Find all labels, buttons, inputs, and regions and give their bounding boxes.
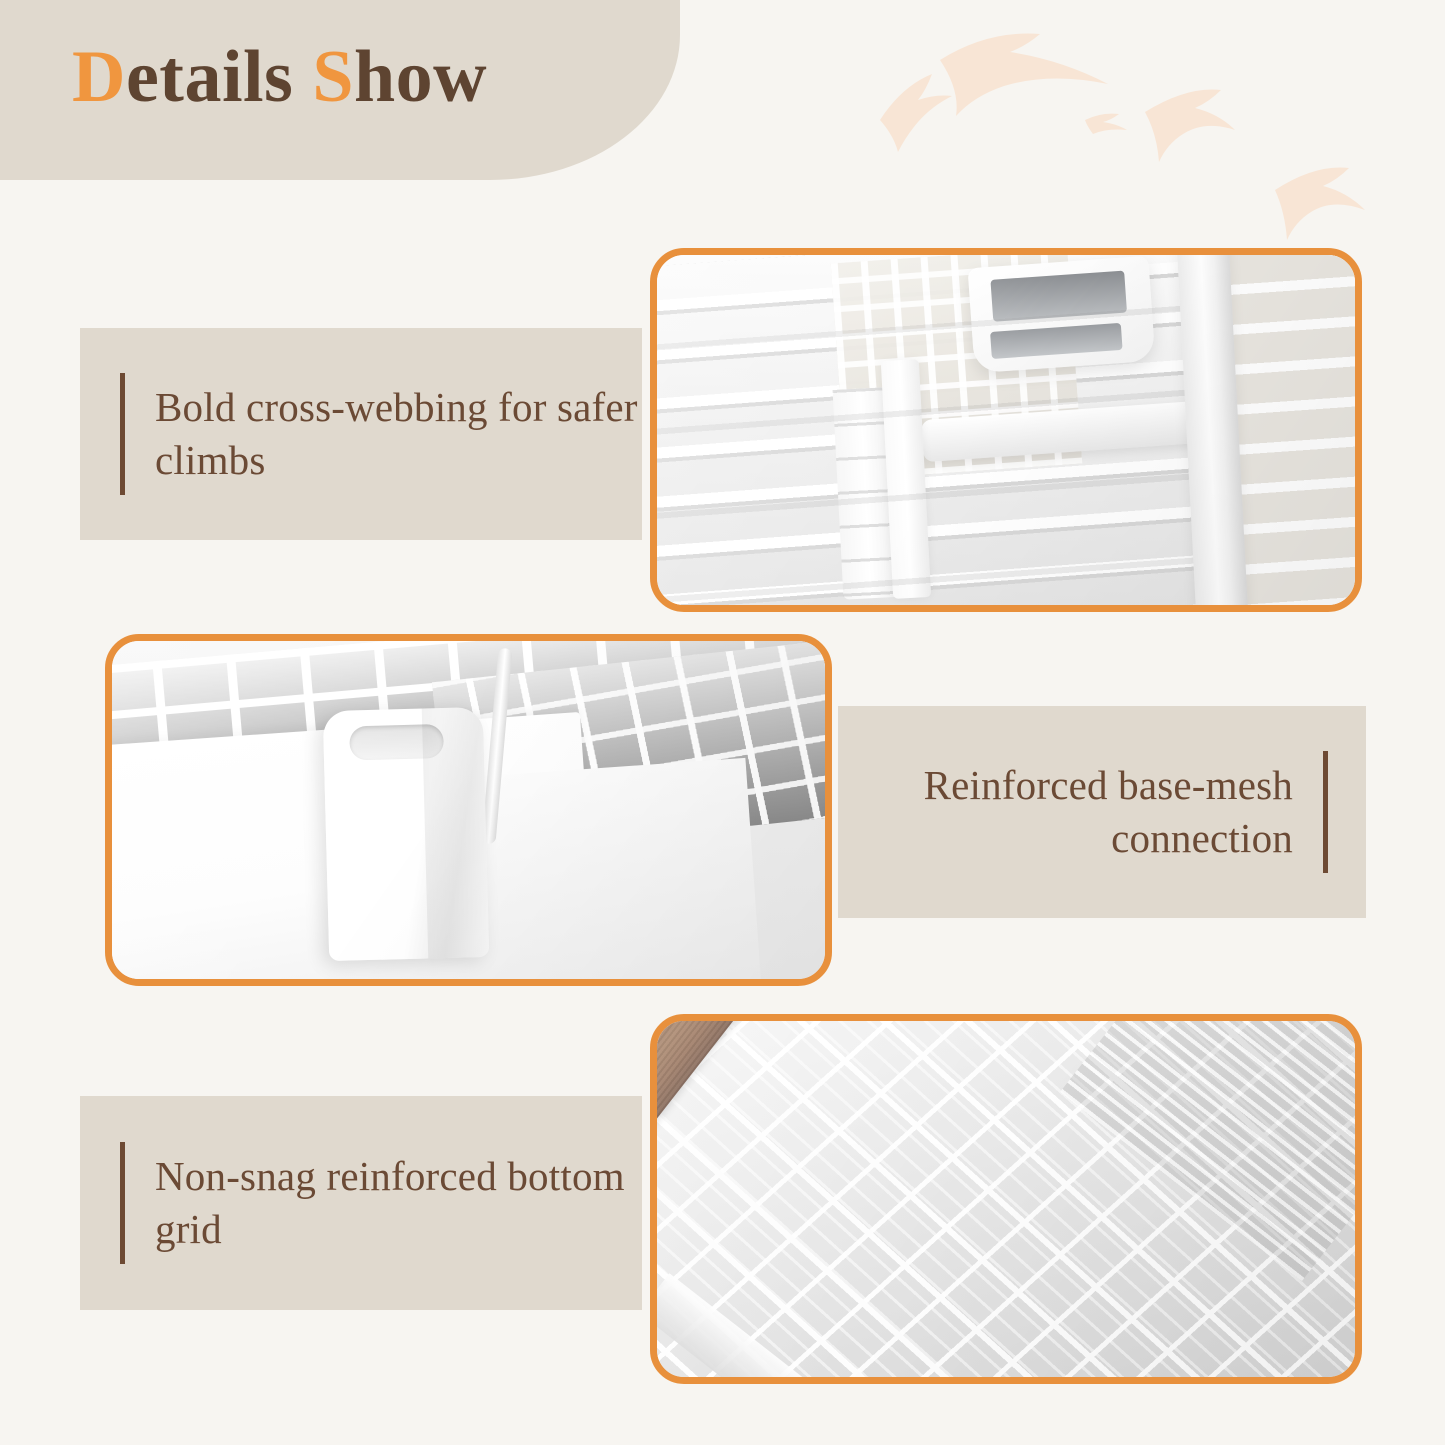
bird-silhouettes-decoration (845, 0, 1445, 270)
accent-bar-icon (120, 373, 125, 495)
accent-bar-icon (120, 1142, 125, 1264)
feature-text-block-2: Reinforced base-mesh connection (838, 706, 1366, 918)
bottom-grid-illustration (657, 1021, 1355, 1377)
infographic-page: Details Show Bold cross-webbing for safe… (0, 0, 1445, 1445)
title-accent-d: D (72, 36, 126, 118)
cage-interior-illustration (657, 255, 1355, 605)
feature-photo-2[interactable] (105, 634, 832, 986)
latch-clip (323, 707, 489, 961)
feature-row-1: Bold cross-webbing for safer climbs (0, 248, 1445, 616)
photo-2-content (112, 641, 825, 979)
base-mesh-illustration (112, 641, 825, 979)
photo-3-content (657, 1021, 1355, 1377)
feature-text-block-3: Non-snag reinforced bottom grid (80, 1096, 642, 1310)
feature-photo-3[interactable] (650, 1014, 1362, 1384)
feature-row-3: Non-snag reinforced bottom grid (0, 1014, 1445, 1386)
feature-label-2: Reinforced base-mesh connection (838, 759, 1293, 866)
title-rest-2: how (354, 36, 487, 118)
feature-text-block-1: Bold cross-webbing for safer climbs (80, 328, 642, 540)
feature-photo-1[interactable] (650, 248, 1362, 612)
title-accent-s: S (312, 36, 354, 118)
feature-row-2: Reinforced base-mesh connection (0, 634, 1445, 990)
title-rest-1: etails (126, 36, 312, 118)
accent-bar-icon (1323, 751, 1328, 873)
feature-label-3: Non-snag reinforced bottom grid (155, 1150, 642, 1257)
page-title: Details Show (72, 40, 487, 114)
photo-1-content (657, 255, 1355, 605)
feature-label-1: Bold cross-webbing for safer climbs (155, 381, 642, 488)
